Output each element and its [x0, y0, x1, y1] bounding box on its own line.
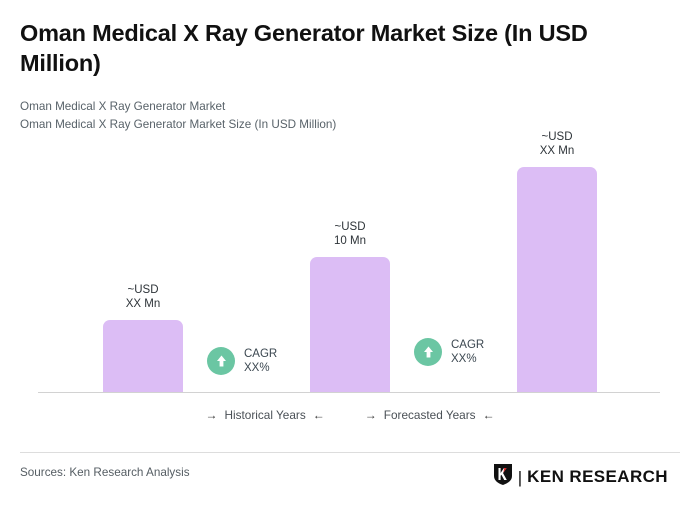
legend-forecasted-years-label: Forecasted Years — [384, 408, 476, 422]
bar-value-label: ~USDXX Mn — [103, 283, 183, 311]
chart-bar[interactable] — [310, 257, 390, 392]
cagr-label-line1: CAGR — [451, 339, 484, 351]
cagr-badge: CAGRXX% — [414, 338, 484, 366]
brand-name: KEN RESEARCH — [527, 467, 668, 487]
chart-bar[interactable] — [517, 167, 597, 392]
bar-value-label-line1: ~USD — [335, 221, 366, 233]
chart-period-legend: → Historical Years ← → Forecasted Years … — [0, 408, 700, 422]
chart-page: Oman Medical X Ray Generator Market Size… — [0, 0, 700, 520]
brand-logo: | KEN RESEARCH — [493, 463, 668, 491]
bar-value-label: ~USDXX Mn — [517, 130, 597, 158]
ken-research-shield-icon — [493, 463, 513, 491]
arrow-up-icon — [207, 347, 235, 375]
bar-value-label-line1: ~USD — [542, 131, 573, 143]
arrow-up-icon — [414, 338, 442, 366]
legend-forecasted-years: → Forecasted Years ← — [365, 408, 495, 422]
chart-plot-area: ~USDXX Mn CAGRXX% ~USD10 Mn CAGRXX% ~USD — [0, 110, 700, 395]
cagr-badge: CAGRXX% — [207, 347, 277, 375]
page-title: Oman Medical X Ray Generator Market Size… — [20, 18, 670, 78]
arrow-left-icon: ← — [483, 409, 495, 421]
arrow-right-icon: → — [365, 409, 377, 421]
bar-value-label-line2: 10 Mn — [334, 235, 366, 247]
legend-historical-years-label: Historical Years — [224, 408, 305, 422]
cagr-label: CAGRXX% — [451, 338, 484, 366]
bar-value-label-line1: ~USD — [128, 284, 159, 296]
bar-value-label-line2: XX Mn — [126, 298, 161, 310]
cagr-label-line1: CAGR — [244, 348, 277, 360]
bar-value-label: ~USD10 Mn — [310, 220, 390, 248]
chart-bar[interactable] — [103, 320, 183, 392]
cagr-label-line2: XX% — [244, 362, 270, 374]
cagr-label-line2: XX% — [451, 353, 477, 365]
legend-historical-years: → Historical Years ← — [205, 408, 324, 422]
footer-divider — [20, 452, 680, 453]
arrow-left-icon: ← — [313, 409, 325, 421]
sources-text: Sources: Ken Research Analysis — [20, 466, 190, 479]
cagr-label: CAGRXX% — [244, 347, 277, 375]
bar-value-label-line2: XX Mn — [540, 145, 575, 157]
arrow-right-icon: → — [205, 409, 217, 421]
chart-baseline-axis — [38, 392, 660, 393]
